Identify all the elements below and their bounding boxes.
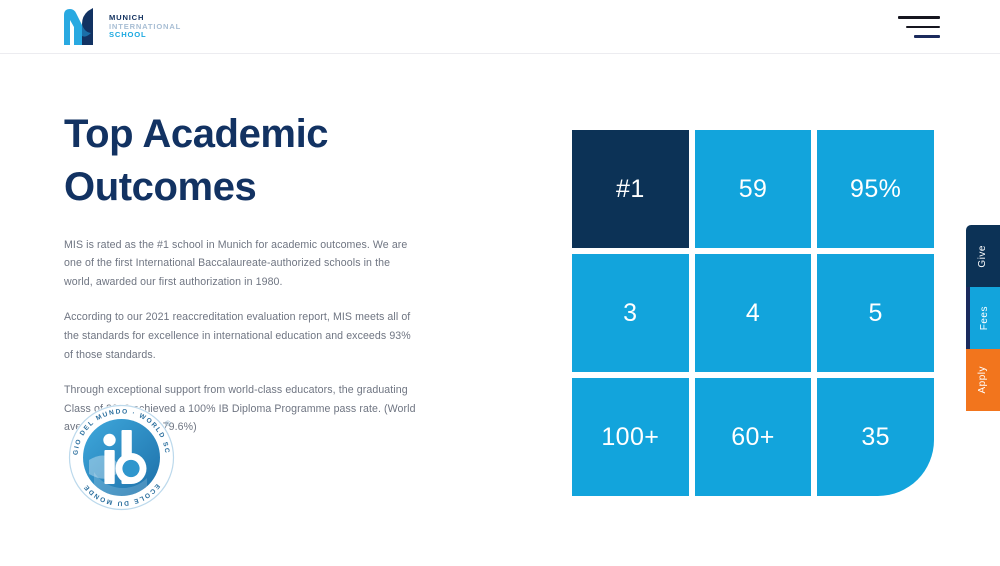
page-root: MUNICH INTERNATIONAL SCHOOL Top Academic…: [0, 0, 1000, 566]
hamburger-menu-icon[interactable]: [898, 14, 940, 40]
side-tab-fees-label: Fees: [980, 306, 990, 330]
ib-world-school-badge-icon: COLEGIO DEL MUNDO · WORLD SCHOOL ECOLE D…: [64, 400, 179, 515]
paragraph-1: MIS is rated as the #1 school in Munich …: [64, 236, 420, 293]
side-tab-give-label: Give: [978, 245, 988, 268]
site-header: MUNICH INTERNATIONAL SCHOOL: [0, 0, 1000, 54]
stat-tile[interactable]: 59: [695, 130, 812, 248]
logo-wordmark: MUNICH INTERNATIONAL SCHOOL: [109, 14, 181, 41]
page-title: Top Academic Outcomes: [64, 108, 364, 214]
stat-tile[interactable]: 95%: [817, 130, 934, 248]
stat-tile[interactable]: 60+: [695, 378, 812, 496]
svg-text:®: ®: [165, 419, 171, 428]
stat-tile[interactable]: 35: [817, 378, 934, 496]
side-quick-links: Give Fees Apply: [966, 225, 1000, 411]
stat-tile[interactable]: #1: [572, 130, 689, 248]
hamburger-bar-middle: [906, 26, 940, 29]
academic-outcomes-text-column: Top Academic Outcomes MIS is rated as th…: [64, 108, 444, 437]
side-tab-apply[interactable]: Apply: [966, 349, 1000, 411]
side-tab-give[interactable]: Give: [966, 225, 1000, 287]
stat-tile[interactable]: 4: [695, 254, 812, 372]
stat-tile[interactable]: 3: [572, 254, 689, 372]
academic-outcomes-stats-grid: #1 59 95% 3 4 5 100+ 60+ 35: [572, 130, 934, 496]
munich-international-school-m-logo-icon: [62, 7, 100, 47]
logo-line-school: SCHOOL: [109, 31, 181, 40]
stat-tile[interactable]: 100+: [572, 378, 689, 496]
hamburger-bar-bottom: [914, 35, 940, 38]
side-tab-apply-label: Apply: [978, 366, 988, 394]
site-logo[interactable]: MUNICH INTERNATIONAL SCHOOL: [62, 7, 181, 47]
hamburger-bar-top: [898, 16, 940, 19]
stat-tile[interactable]: 5: [817, 254, 934, 372]
paragraph-2: According to our 2021 reaccreditation ev…: [64, 308, 420, 365]
side-tab-fees[interactable]: Fees: [966, 287, 1000, 349]
